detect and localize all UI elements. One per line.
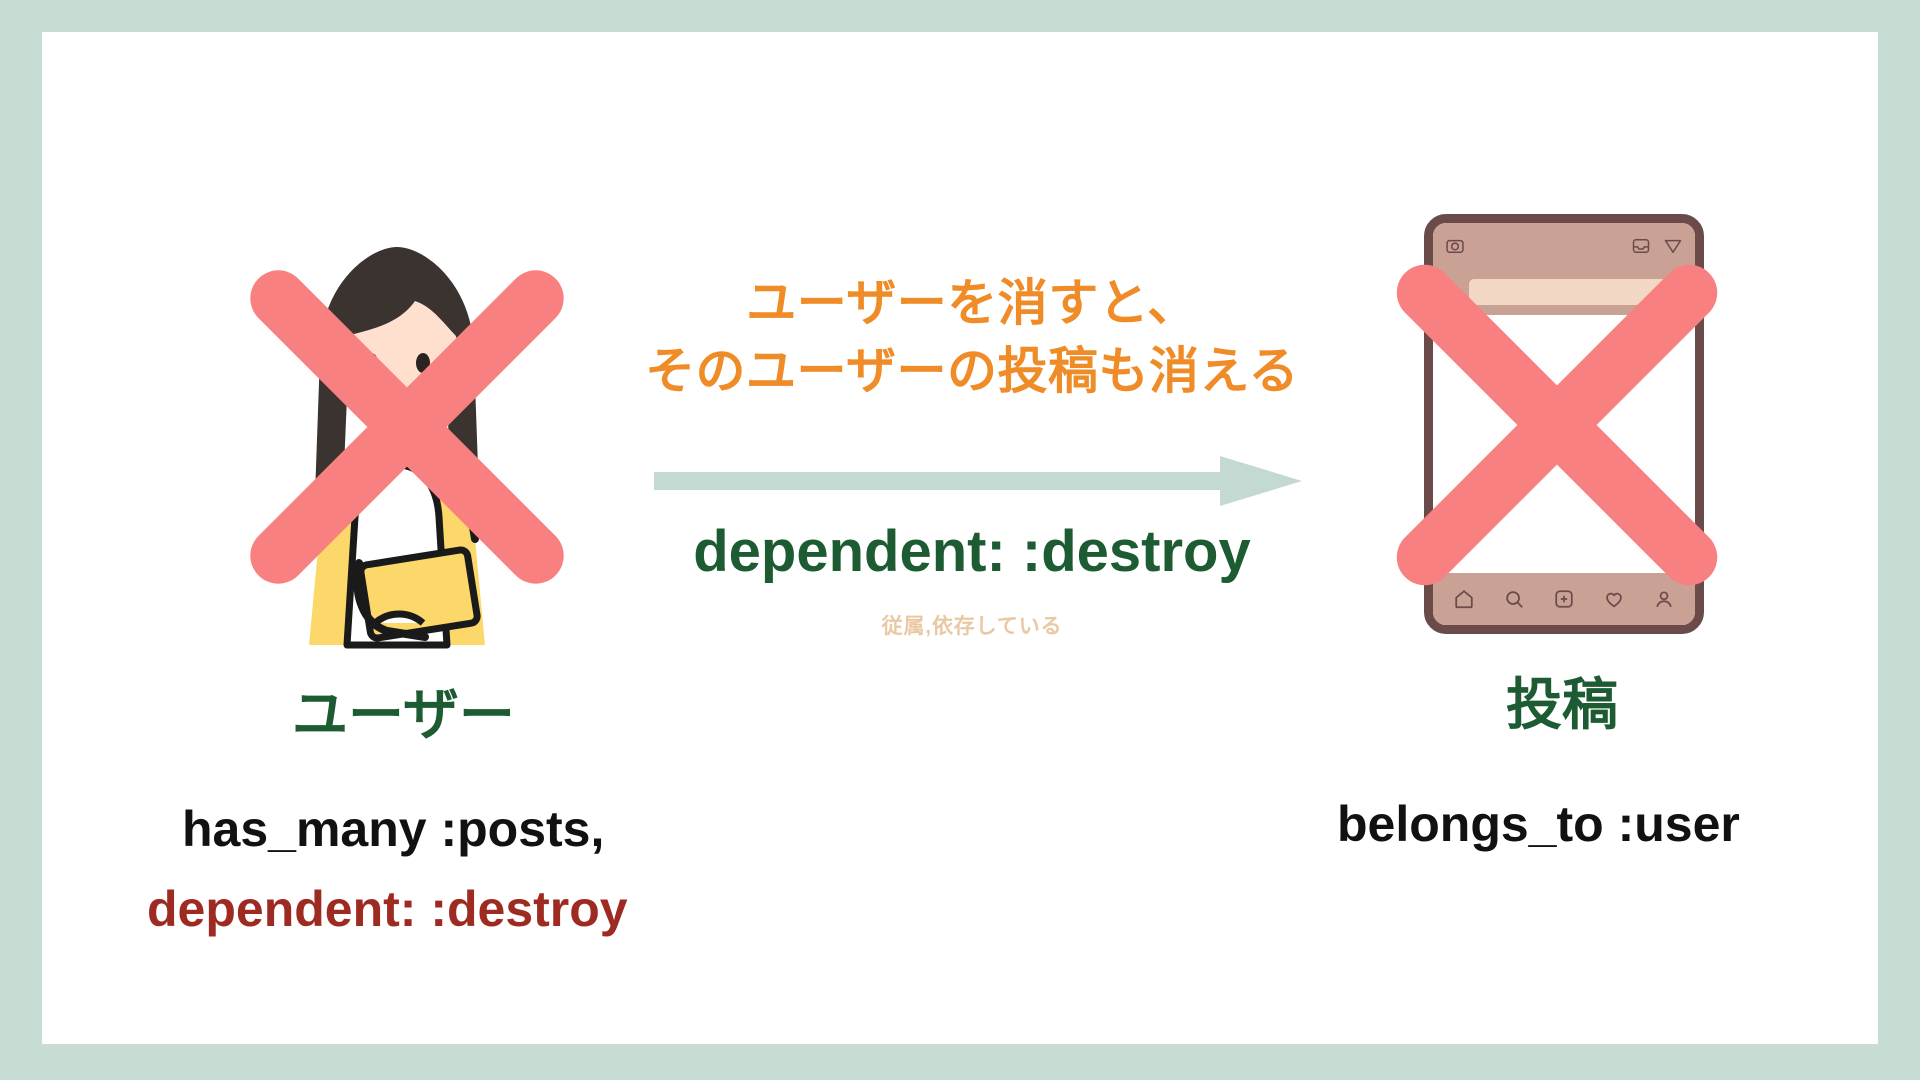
smartphone-post-mockup (1424, 214, 1704, 634)
search-icon[interactable] (1503, 588, 1525, 610)
center-code-dependent-destroy: dependent: :destroy (602, 522, 1342, 583)
headline: ユーザーを消すと、そのユーザーの投稿も消える (602, 270, 1342, 405)
phone-search-field[interactable] (1469, 279, 1685, 305)
phone-top-bar (1433, 223, 1695, 269)
search-icon (1443, 283, 1461, 301)
profile-icon[interactable] (1653, 588, 1675, 610)
home-icon[interactable] (1453, 588, 1475, 610)
entity-label-user: ユーザー (292, 687, 515, 743)
phone-tab-bar (1433, 573, 1695, 625)
center-gloss-translation: 従属,依存している (602, 610, 1342, 640)
code-belongs-to-user: belongs_to :user (1337, 797, 1740, 851)
send-icon (1663, 236, 1683, 256)
phone-search-row[interactable] (1433, 269, 1695, 315)
phone-content-area (1433, 315, 1695, 573)
flow-arrow-icon (654, 450, 1314, 512)
code-dependent-destroy-user: dependent: :destroy (147, 882, 628, 936)
slide-card: ユーザー has_many :posts, dependent: :destro… (42, 32, 1878, 1044)
camera-icon (1445, 236, 1465, 256)
user-person-illustration (247, 227, 547, 667)
add-post-icon[interactable] (1553, 588, 1575, 610)
headline-line-2: そのユーザーの投稿も消える (602, 338, 1342, 406)
heart-icon[interactable] (1603, 588, 1625, 610)
entity-label-post: 投稿 (1506, 677, 1618, 733)
headline-line-1: ユーザーを消すと、 (746, 275, 1198, 331)
slide-root: ユーザー has_many :posts, dependent: :destro… (0, 0, 1920, 1080)
phone-frame (1424, 214, 1704, 634)
inbox-icon (1631, 236, 1651, 256)
code-has-many-posts: has_many :posts, (182, 802, 604, 856)
